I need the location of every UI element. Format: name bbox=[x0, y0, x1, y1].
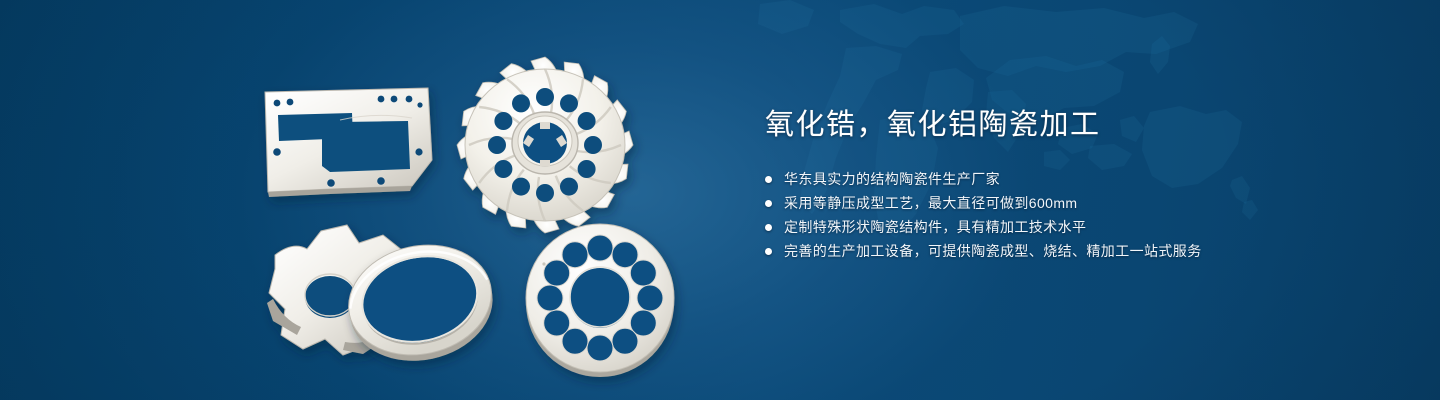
list-item-label: 采用等静压成型工艺，最大直径可做到600mm bbox=[784, 192, 1077, 215]
list-item-label: 定制特殊形状陶瓷结构件，具有精加工技术水平 bbox=[784, 216, 1086, 239]
list-item: 完善的生产加工设备，可提供陶瓷成型、烧结、精加工一站式服务 bbox=[765, 240, 1385, 263]
list-item-label: 华东具实力的结构陶瓷件生产厂家 bbox=[784, 168, 1000, 191]
list-item: 华东具实力的结构陶瓷件生产厂家 bbox=[765, 168, 1385, 191]
bullet-dot-icon bbox=[765, 200, 772, 207]
list-item: 定制特殊形状陶瓷结构件，具有精加工技术水平 bbox=[765, 216, 1385, 239]
list-item-label: 完善的生产加工设备，可提供陶瓷成型、烧结、精加工一站式服务 bbox=[784, 240, 1202, 263]
feature-list: 华东具实力的结构陶瓷件生产厂家 采用等静压成型工艺，最大直径可做到600mm 定… bbox=[765, 168, 1385, 263]
bullet-dot-icon bbox=[765, 248, 772, 255]
page-title: 氧化锆，氧化铝陶瓷加工 bbox=[765, 105, 1385, 145]
bullet-dot-icon bbox=[765, 224, 772, 231]
bullet-dot-icon bbox=[765, 176, 772, 183]
ceramic-processing-banner: 氧化锆，氧化铝陶瓷加工 华东具实力的结构陶瓷件生产厂家 采用等静压成型工艺，最大… bbox=[0, 0, 1440, 400]
banner-copy: 氧化锆，氧化铝陶瓷加工 华东具实力的结构陶瓷件生产厂家 采用等静压成型工艺，最大… bbox=[765, 105, 1385, 264]
list-item: 采用等静压成型工艺，最大直径可做到600mm bbox=[765, 192, 1385, 215]
